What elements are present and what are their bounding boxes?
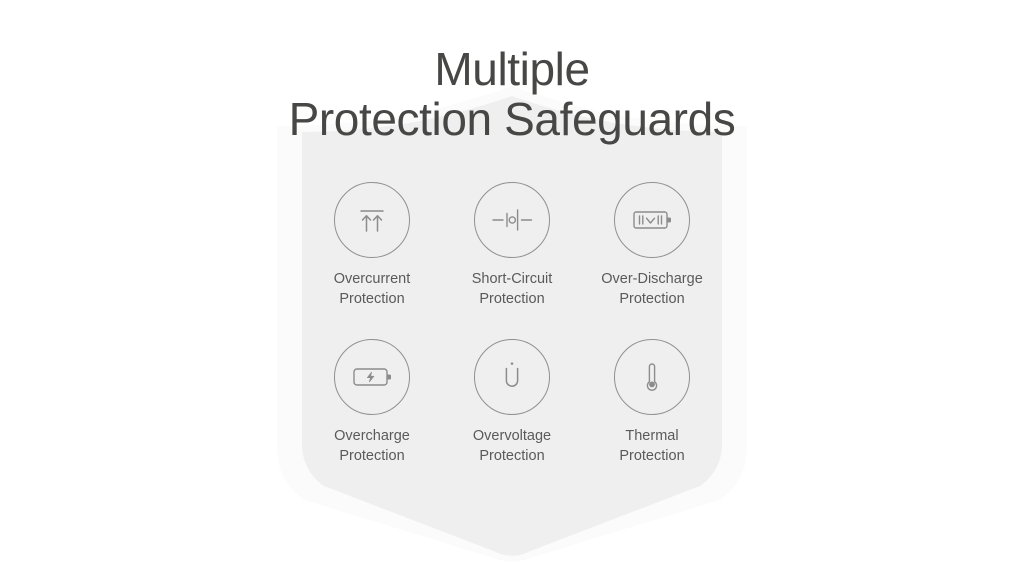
feature-thermal-protection[interactable]: Thermal Protection (582, 339, 722, 466)
feature-label: Short-Circuit Protection (472, 270, 553, 309)
feature-row-2: Overcharge Protection Overvoltage Protec… (302, 339, 722, 466)
thermometer-icon (630, 355, 674, 399)
protection-feature-grid: Overcurrent Protection Short-Circuit (302, 182, 722, 466)
up-arrows-limit-icon (350, 198, 394, 242)
icon-badge (474, 182, 550, 258)
feature-overcharge-protection[interactable]: Overcharge Protection (302, 339, 442, 466)
infographic-canvas: Multiple Protection Safeguards (0, 0, 1024, 576)
feature-short-circuit-protection[interactable]: Short-Circuit Protection (442, 182, 582, 309)
icon-badge (614, 339, 690, 415)
feature-overcurrent-protection[interactable]: Overcurrent Protection (302, 182, 442, 309)
battery-charging-bolt-icon (348, 355, 396, 399)
feature-row-1: Overcurrent Protection Short-Circuit (302, 182, 722, 309)
feature-overvoltage-protection[interactable]: Overvoltage Protection (442, 339, 582, 466)
battery-discharge-icon (628, 198, 676, 242)
open-circuit-icon (488, 198, 536, 242)
feature-label: Over-Discharge Protection (601, 270, 703, 309)
feature-label: Thermal Protection (619, 427, 684, 466)
icon-badge (334, 339, 410, 415)
feature-label: Overvoltage Protection (473, 427, 551, 466)
feature-label: Overcharge Protection (334, 427, 410, 466)
feature-label: Overcurrent Protection (334, 270, 411, 309)
icon-badge (334, 182, 410, 258)
voltage-u-icon (490, 355, 534, 399)
icon-badge (474, 339, 550, 415)
icon-badge (614, 182, 690, 258)
feature-over-discharge-protection[interactable]: Over-Discharge Protection (582, 182, 722, 309)
page-title: Multiple Protection Safeguards (0, 44, 1024, 144)
